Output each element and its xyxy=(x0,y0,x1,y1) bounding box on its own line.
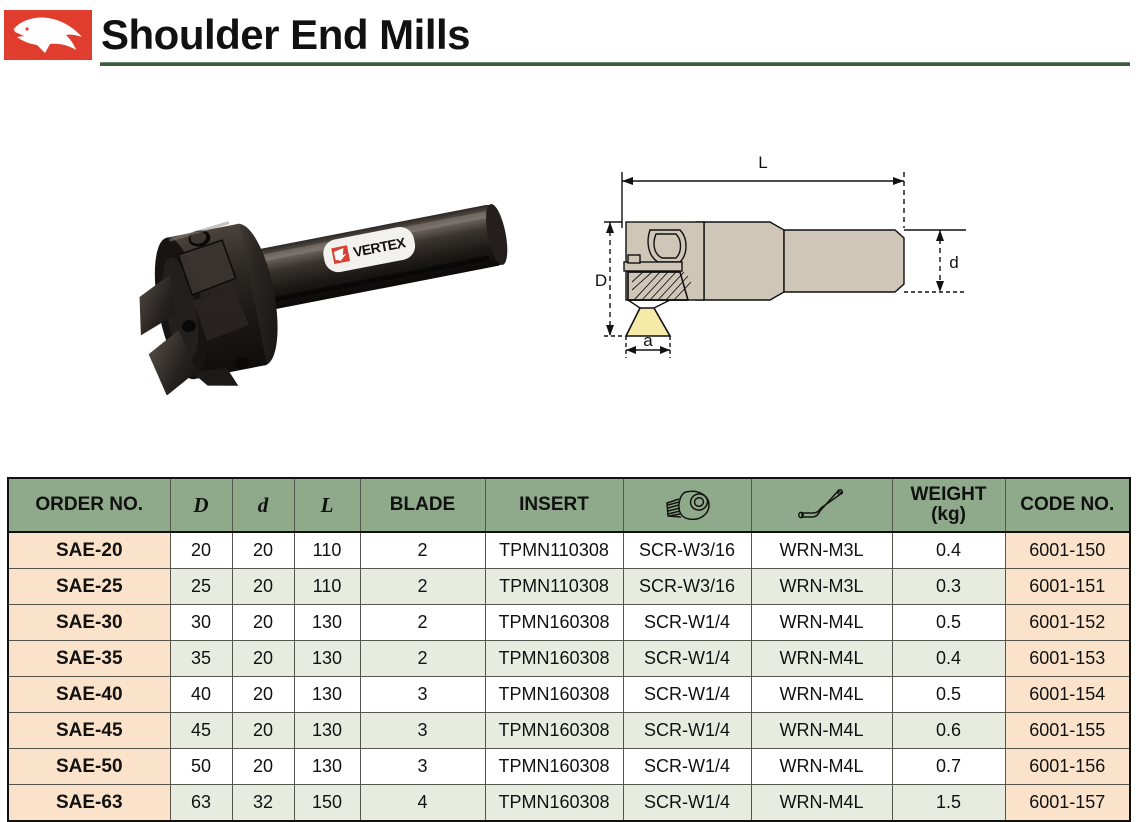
specification-table-wrapper: ORDER NO. D d L BLADE INSERT xyxy=(7,477,1129,822)
cell-weight: 0.3 xyxy=(892,569,1005,605)
title-underline-rule xyxy=(100,62,1130,66)
shoulder-end-mill-dimension-drawing: L D d a xyxy=(588,150,978,365)
cell-insert: TPMN160308 xyxy=(485,677,623,713)
drawing-label-D: D xyxy=(595,271,607,290)
cell-code-no: 6001-156 xyxy=(1005,749,1130,785)
table-row[interactable]: SAE-35 35 20 130 2 TPMN160308 SCR-W1/4 W… xyxy=(8,641,1130,677)
cell-D: 50 xyxy=(170,749,232,785)
table-row[interactable]: SAE-50 50 20 130 3 TPMN160308 SCR-W1/4 W… xyxy=(8,749,1130,785)
cell-L: 110 xyxy=(294,569,360,605)
cell-blade: 4 xyxy=(360,785,485,822)
cell-screw: SCR-W1/4 xyxy=(623,713,751,749)
cell-wrench: WRN-M4L xyxy=(751,677,892,713)
cell-wrench: WRN-M3L xyxy=(751,532,892,569)
table-row[interactable]: SAE-63 63 32 150 4 TPMN160308 SCR-W1/4 W… xyxy=(8,785,1130,822)
cell-blade: 2 xyxy=(360,532,485,569)
col-header-weight: WEIGHT (kg) xyxy=(892,478,1005,532)
cell-L: 130 xyxy=(294,605,360,641)
cell-d: 20 xyxy=(232,641,294,677)
cell-wrench: WRN-M4L xyxy=(751,641,892,677)
cell-code-no: 6001-150 xyxy=(1005,532,1130,569)
cell-blade: 2 xyxy=(360,641,485,677)
col-header-weight-line2: (kg) xyxy=(893,505,1005,525)
cell-L: 130 xyxy=(294,641,360,677)
cell-order-no: SAE-63 xyxy=(8,785,170,822)
cell-insert: TPMN160308 xyxy=(485,641,623,677)
cell-screw: SCR-W1/4 xyxy=(623,605,751,641)
eagle-head-logo xyxy=(4,10,92,60)
cell-screw: SCR-W1/4 xyxy=(623,785,751,822)
figure-area: VERTEX xyxy=(0,90,1142,470)
cell-D: 20 xyxy=(170,532,232,569)
cell-insert: TPMN160308 xyxy=(485,605,623,641)
cell-screw: SCR-W1/4 xyxy=(623,677,751,713)
cell-wrench: WRN-M3L xyxy=(751,569,892,605)
cell-code-no: 6001-157 xyxy=(1005,785,1130,822)
cell-blade: 3 xyxy=(360,713,485,749)
cell-screw: SCR-W3/16 xyxy=(623,532,751,569)
cell-code-no: 6001-153 xyxy=(1005,641,1130,677)
col-header-screw xyxy=(623,478,751,532)
hex-key-wrench-icon xyxy=(786,485,858,525)
cell-wrench: WRN-M4L xyxy=(751,749,892,785)
col-header-insert: INSERT xyxy=(485,478,623,532)
cell-L: 130 xyxy=(294,713,360,749)
table-row[interactable]: SAE-30 30 20 130 2 TPMN160308 SCR-W1/4 W… xyxy=(8,605,1130,641)
cell-L: 110 xyxy=(294,532,360,569)
table-body: SAE-20 20 20 110 2 TPMN110308 SCR-W3/16 … xyxy=(8,532,1130,821)
page-header: Shoulder End Mills xyxy=(0,0,1142,78)
socket-head-screw-icon xyxy=(658,485,716,525)
cell-weight: 0.4 xyxy=(892,641,1005,677)
cell-D: 45 xyxy=(170,713,232,749)
cell-order-no: SAE-20 xyxy=(8,532,170,569)
col-header-blade: BLADE xyxy=(360,478,485,532)
cell-blade: 2 xyxy=(360,569,485,605)
cell-screw: SCR-W1/4 xyxy=(623,641,751,677)
cell-D: 35 xyxy=(170,641,232,677)
cell-insert: TPMN110308 xyxy=(485,532,623,569)
cell-blade: 3 xyxy=(360,677,485,713)
cell-weight: 1.5 xyxy=(892,785,1005,822)
cell-screw: SCR-W3/16 xyxy=(623,569,751,605)
cell-order-no: SAE-35 xyxy=(8,641,170,677)
cell-insert: TPMN160308 xyxy=(485,785,623,822)
cell-weight: 0.5 xyxy=(892,605,1005,641)
cell-L: 130 xyxy=(294,677,360,713)
cell-D: 30 xyxy=(170,605,232,641)
drawing-label-L: L xyxy=(758,153,767,172)
col-header-code-no: CODE NO. xyxy=(1005,478,1130,532)
cell-weight: 0.6 xyxy=(892,713,1005,749)
cell-wrench: WRN-M4L xyxy=(751,785,892,822)
drawing-label-d: d xyxy=(949,253,958,272)
cell-code-no: 6001-152 xyxy=(1005,605,1130,641)
table-row[interactable]: SAE-20 20 20 110 2 TPMN110308 SCR-W3/16 … xyxy=(8,532,1130,569)
cell-order-no: SAE-30 xyxy=(8,605,170,641)
cell-insert: TPMN160308 xyxy=(485,749,623,785)
col-header-D: D xyxy=(170,478,232,532)
cell-L: 150 xyxy=(294,785,360,822)
cell-d: 20 xyxy=(232,677,294,713)
cell-d: 20 xyxy=(232,749,294,785)
cell-weight: 0.7 xyxy=(892,749,1005,785)
cell-D: 40 xyxy=(170,677,232,713)
specification-table: ORDER NO. D d L BLADE INSERT xyxy=(7,477,1131,822)
cell-order-no: SAE-40 xyxy=(8,677,170,713)
page-title: Shoulder End Mills xyxy=(101,12,470,58)
cell-d: 20 xyxy=(232,605,294,641)
drawing-label-a: a xyxy=(643,331,653,350)
cell-order-no: SAE-25 xyxy=(8,569,170,605)
cell-weight: 0.5 xyxy=(892,677,1005,713)
shoulder-end-mill-photo: VERTEX xyxy=(85,165,545,395)
cell-screw: SCR-W1/4 xyxy=(623,749,751,785)
cell-d: 20 xyxy=(232,532,294,569)
cell-code-no: 6001-155 xyxy=(1005,713,1130,749)
cell-code-no: 6001-151 xyxy=(1005,569,1130,605)
cell-order-no: SAE-45 xyxy=(8,713,170,749)
cell-L: 130 xyxy=(294,749,360,785)
cell-d: 20 xyxy=(232,713,294,749)
col-header-order-no: ORDER NO. xyxy=(8,478,170,532)
cell-D: 25 xyxy=(170,569,232,605)
table-row[interactable]: SAE-45 45 20 130 3 TPMN160308 SCR-W1/4 W… xyxy=(8,713,1130,749)
table-header-row: ORDER NO. D d L BLADE INSERT xyxy=(8,478,1130,532)
cell-wrench: WRN-M4L xyxy=(751,605,892,641)
cell-code-no: 6001-154 xyxy=(1005,677,1130,713)
cell-weight: 0.4 xyxy=(892,532,1005,569)
cell-d: 32 xyxy=(232,785,294,822)
cell-d: 20 xyxy=(232,569,294,605)
col-header-d: d xyxy=(232,478,294,532)
cell-order-no: SAE-50 xyxy=(8,749,170,785)
cell-wrench: WRN-M4L xyxy=(751,713,892,749)
cell-insert: TPMN110308 xyxy=(485,569,623,605)
table-row[interactable]: SAE-25 25 20 110 2 TPMN110308 SCR-W3/16 … xyxy=(8,569,1130,605)
col-header-weight-line1: WEIGHT xyxy=(893,485,1005,505)
col-header-L: L xyxy=(294,478,360,532)
cell-blade: 3 xyxy=(360,749,485,785)
cell-insert: TPMN160308 xyxy=(485,713,623,749)
cell-D: 63 xyxy=(170,785,232,822)
table-row[interactable]: SAE-40 40 20 130 3 TPMN160308 SCR-W1/4 W… xyxy=(8,677,1130,713)
col-header-wrench xyxy=(751,478,892,532)
cell-blade: 2 xyxy=(360,605,485,641)
